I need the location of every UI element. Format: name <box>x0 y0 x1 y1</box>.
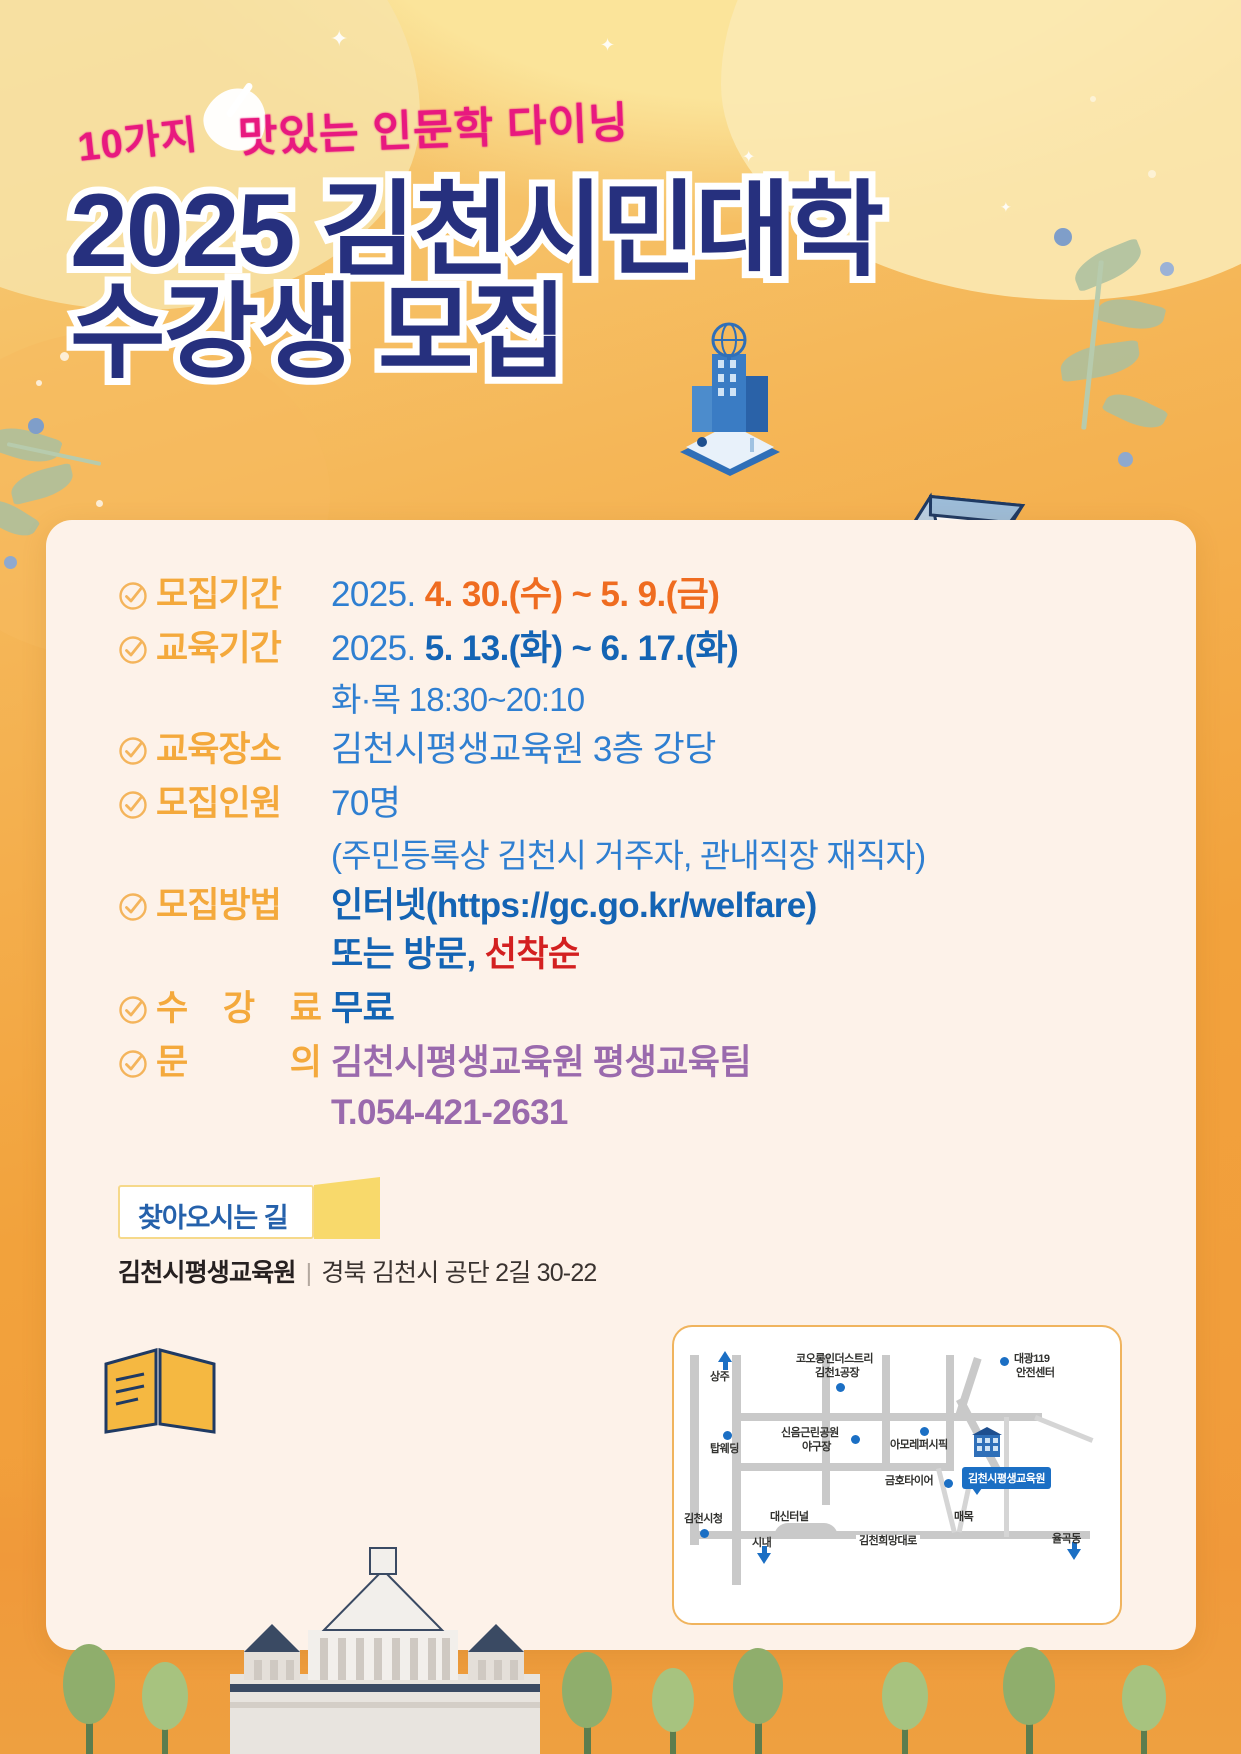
venue-address-line: 김천시평생교육원|경북 김천시 공단 2길 30-22 <box>118 1253 597 1289</box>
banner-ribbon-tail <box>314 1177 380 1239</box>
address-separator: | <box>306 1259 312 1287</box>
check-circle-icon <box>118 635 148 665</box>
map-marker <box>851 1435 860 1444</box>
tree-illustration <box>730 1638 788 1754</box>
map-label: 매목 <box>954 1511 973 1524</box>
info-subline: 화·목 18:30~20:10 <box>331 673 738 721</box>
map-label: 야구장 <box>802 1441 831 1454</box>
map-marker <box>944 1479 953 1488</box>
info-value: 2025. 4. 30.(수) ~ 5. 9.(금) <box>331 570 719 620</box>
info-value: 인터넷(https://gc.go.kr/welfare) 또는 방문, 선착순 <box>331 881 817 980</box>
tree-illustration <box>650 1662 698 1754</box>
info-value: 김천시평생교육원 3층 강당 <box>331 725 716 775</box>
globe-building-icon <box>660 320 800 480</box>
map-label: 율곡동 <box>1052 1533 1081 1546</box>
venue-address: 경북 김천시 공단 2길 30-22 <box>321 1259 596 1287</box>
info-row-fee: 수 강 료 무료 <box>118 984 1118 1034</box>
check-circle-icon <box>118 581 148 611</box>
info-row-application-method: 모집방법 인터넷(https://gc.go.kr/welfare) 또는 방문… <box>118 881 1118 980</box>
info-row-inquiry: 문 의 김천시평생교육원 평생교육팀 T.054-421-2631 <box>118 1038 1118 1137</box>
check-circle-icon <box>118 995 148 1025</box>
info-label: 교육기간 <box>156 624 331 674</box>
check-circle-icon <box>118 1049 148 1079</box>
flower-decoration <box>1118 452 1133 467</box>
destination-building-icon <box>970 1427 1004 1461</box>
inquiry-phone[interactable]: T.054-421-2631 <box>331 1088 751 1138</box>
map-destination-pin: 김천시평생교육원 <box>962 1467 1051 1489</box>
tree-illustration <box>1120 1658 1170 1754</box>
map-marker <box>723 1431 732 1440</box>
venue-name: 김천시평생교육원 <box>118 1259 296 1287</box>
value-segment: 5. 13.(화) ~ 6. 17.(화) <box>425 629 738 668</box>
decor-dot <box>1090 96 1096 102</box>
map-tunnel <box>774 1523 838 1537</box>
map-arrow-up-stem <box>723 1362 728 1370</box>
info-label: 문 의 <box>156 1038 331 1088</box>
info-label: 교육장소 <box>156 725 331 775</box>
first-come-badge: 선착순 <box>485 935 580 974</box>
info-label: 모집기간 <box>156 570 331 620</box>
map-arrow-down-icon <box>1067 1549 1081 1560</box>
decor-dot <box>60 352 69 361</box>
directions-banner: 찾아오시는 길 <box>118 1185 380 1239</box>
inquiry-team: 김천시평생교육원 평생교육팀 <box>331 1038 751 1088</box>
label-char: 수 <box>156 984 187 1034</box>
value-segment: 70명 <box>331 779 925 829</box>
info-row-venue: 교육장소 김천시평생교육원 3층 강당 <box>118 725 1118 775</box>
info-value: 김천시평생교육원 평생교육팀 T.054-421-2631 <box>331 1038 751 1137</box>
map-label: 코오롱인더스트리 <box>796 1353 873 1366</box>
info-value: 2025. 5. 13.(화) ~ 6. 17.(화) 화·목 18:30~20… <box>331 624 738 722</box>
map-label: 금호타이어 <box>885 1475 933 1488</box>
info-label: 수 강 료 <box>156 984 331 1034</box>
map-road <box>1034 1415 1093 1443</box>
map-label: 시내 <box>752 1537 771 1550</box>
map-marker <box>836 1383 845 1392</box>
info-row-education-period: 교육기간 2025. 5. 13.(화) ~ 6. 17.(화) 화·목 18:… <box>118 624 1118 722</box>
value-segment: 무료 <box>331 984 394 1034</box>
subtitle-part1: 10가지 <box>75 103 201 173</box>
tree-illustration <box>140 1654 192 1754</box>
map-label: 안전센터 <box>1016 1367 1054 1380</box>
map-label: 아모레퍼시픽 <box>890 1439 948 1452</box>
title-line-1: 2025 김천시민대학 <box>70 178 1080 284</box>
value-segment: 또는 방문, <box>331 935 485 974</box>
map-label: 상주 <box>710 1371 729 1384</box>
info-label: 모집인원 <box>156 779 331 829</box>
sparkle-icon: ✦ <box>330 28 348 50</box>
map-marker <box>700 1529 709 1538</box>
sparkle-icon: ✦ <box>600 36 615 54</box>
tree-illustration <box>560 1644 616 1754</box>
decor-dot <box>36 380 42 386</box>
map-label: 김천시청 <box>684 1513 722 1526</box>
flower-decoration <box>28 418 44 434</box>
check-circle-icon <box>118 736 148 766</box>
capitol-building-illustration <box>230 1534 540 1754</box>
location-map[interactable]: 김천시평생교육원 상주 코오롱인더스트리 김천1공장 탑웨딩 신음근린공원 야구… <box>672 1325 1122 1625</box>
info-row-capacity: 모집인원 70명 (주민등록상 김천시 거주자, 관내직장 재직자) <box>118 779 1118 877</box>
map-arrow-up-icon <box>718 1351 732 1362</box>
check-circle-icon <box>118 790 148 820</box>
application-url[interactable]: 인터넷(https://gc.go.kr/welfare) <box>331 881 817 931</box>
map-road <box>732 1413 1042 1421</box>
info-value: 무료 <box>331 984 394 1034</box>
map-marker <box>1000 1357 1009 1366</box>
flower-decoration <box>4 556 17 569</box>
label-char: 의 <box>290 1038 321 1088</box>
map-label: 탑웨딩 <box>710 1443 739 1456</box>
title-line-2: 수강생 모집 <box>70 280 1080 386</box>
open-book-icon <box>100 1340 220 1435</box>
decor-dot <box>96 500 103 507</box>
value-segment: 김천시평생교육원 3층 강당 <box>331 725 716 775</box>
label-char: 문 <box>156 1038 187 1088</box>
map-label: 김천희망대로 <box>856 1535 920 1548</box>
value-segment: 2025. <box>331 575 425 614</box>
directions-banner-label: 찾아오시는 길 <box>138 1196 288 1235</box>
map-label: 대신터널 <box>770 1511 808 1524</box>
info-list: 모집기간 2025. 4. 30.(수) ~ 5. 9.(금) 교육기간 202… <box>118 570 1118 1141</box>
info-value: 70명 (주민등록상 김천시 거주자, 관내직장 재직자) <box>331 779 925 877</box>
label-char: 료 <box>290 984 321 1034</box>
value-segment: 4. 30.(수) ~ 5. 9.(금) <box>425 575 720 614</box>
tree-illustration <box>60 1634 120 1754</box>
label-char: 강 <box>223 984 254 1034</box>
map-label: 신음근린공원 <box>781 1427 839 1440</box>
info-subline: (주민등록상 김천시 거주자, 관내직장 재직자) <box>331 829 925 877</box>
poster-title: 2025 김천시민대학 수강생 모집 <box>70 178 1080 386</box>
map-marker <box>920 1427 929 1436</box>
flower-decoration <box>1160 262 1174 276</box>
map-road <box>732 1463 954 1471</box>
decor-dot <box>1148 170 1156 178</box>
info-row-recruit-period: 모집기간 2025. 4. 30.(수) ~ 5. 9.(금) <box>118 570 1118 620</box>
map-label: 김천1공장 <box>815 1367 859 1380</box>
map-road <box>882 1355 890 1465</box>
check-circle-icon <box>118 892 148 922</box>
tree-illustration <box>1000 1636 1060 1754</box>
value-segment: 2025. <box>331 629 425 668</box>
map-label: 대광119 <box>1014 1353 1050 1366</box>
tree-illustration <box>880 1654 932 1754</box>
info-label: 모집방법 <box>156 881 331 931</box>
map-arrow-down-icon <box>757 1553 771 1564</box>
